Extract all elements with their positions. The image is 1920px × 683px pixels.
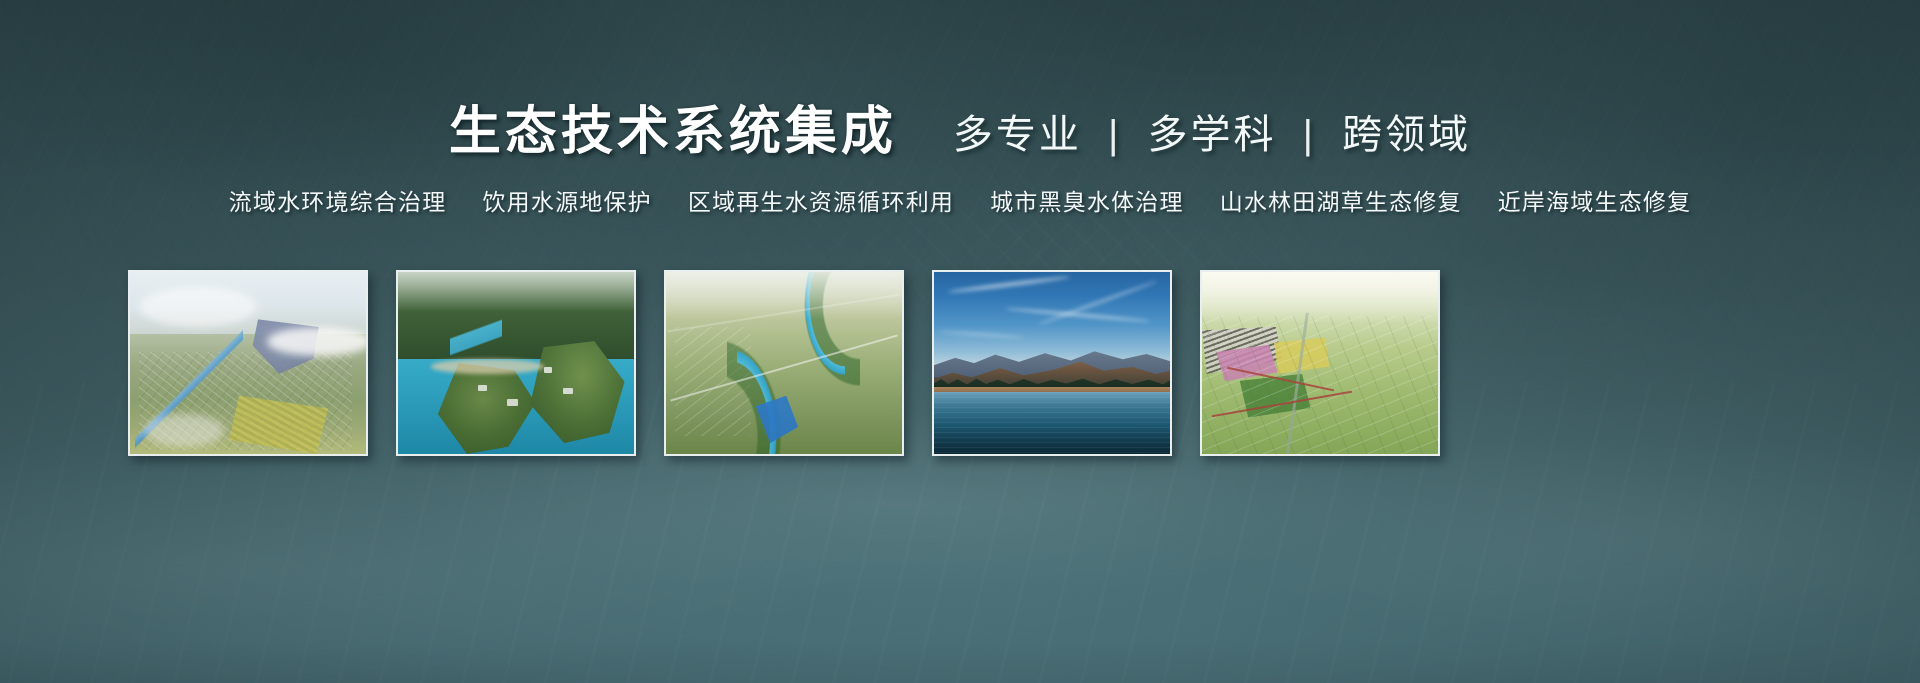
- page-subtitle: 多专业 | 多学科 | 跨领域: [953, 115, 1471, 158]
- page-title: 生态技术系统集成: [449, 106, 897, 158]
- subtitle-separator-2: |: [1291, 113, 1328, 157]
- thumbnail-image-5: [1202, 272, 1438, 454]
- service-tag-watershed[interactable]: 流域水环境综合治理: [229, 191, 447, 214]
- thumbnail-image-2: [398, 272, 634, 454]
- thumbnail-turquoise-lake-forested-islands[interactable]: [396, 270, 636, 456]
- thumbnail-green-river-corridor-aerial[interactable]: [664, 270, 904, 456]
- thumbnail-watershed-aerial-plain-and-lake[interactable]: [128, 270, 368, 456]
- subtitle-part-2: 多学科: [1148, 113, 1277, 157]
- project-thumbnail-strip: [128, 270, 1440, 456]
- thumbnail-agricultural-patchwork-village-aerial[interactable]: [1200, 270, 1440, 456]
- subtitle-part-1: 多专业: [953, 113, 1082, 157]
- subtitle-separator-1: |: [1096, 113, 1133, 157]
- headline-row: 生态技术系统集成 多专业 | 多学科 | 跨领域: [0, 106, 1920, 158]
- service-tag-row: 流域水环境综合治理 饮用水源地保护 区域再生水资源循环利用 城市黑臭水体治理 山…: [0, 191, 1920, 214]
- service-tag-reclaimed-water[interactable]: 区域再生水资源循环利用: [688, 191, 954, 214]
- service-tag-mountain-river-forest[interactable]: 山水林田湖草生态修复: [1220, 191, 1462, 214]
- thumbnail-image-1: [130, 272, 366, 454]
- thumbnail-image-4: [934, 272, 1170, 454]
- subtitle-part-3: 跨领域: [1342, 113, 1471, 157]
- banner-content: 生态技术系统集成 多专业 | 多学科 | 跨领域 流域水环境综合治理 饮用水源地…: [0, 0, 1920, 683]
- service-tag-drinking-water[interactable]: 饮用水源地保护: [482, 191, 651, 214]
- thumbnail-mountain-lake-reflection[interactable]: [932, 270, 1172, 456]
- thumbnail-image-3: [666, 272, 902, 454]
- ecology-technology-banner: 生态技术系统集成 多专业 | 多学科 | 跨领域 流域水环境综合治理 饮用水源地…: [0, 0, 1920, 683]
- service-tag-coastal[interactable]: 近岸海域生态修复: [1498, 191, 1692, 214]
- service-tag-black-odorous[interactable]: 城市黑臭水体治理: [990, 191, 1184, 214]
